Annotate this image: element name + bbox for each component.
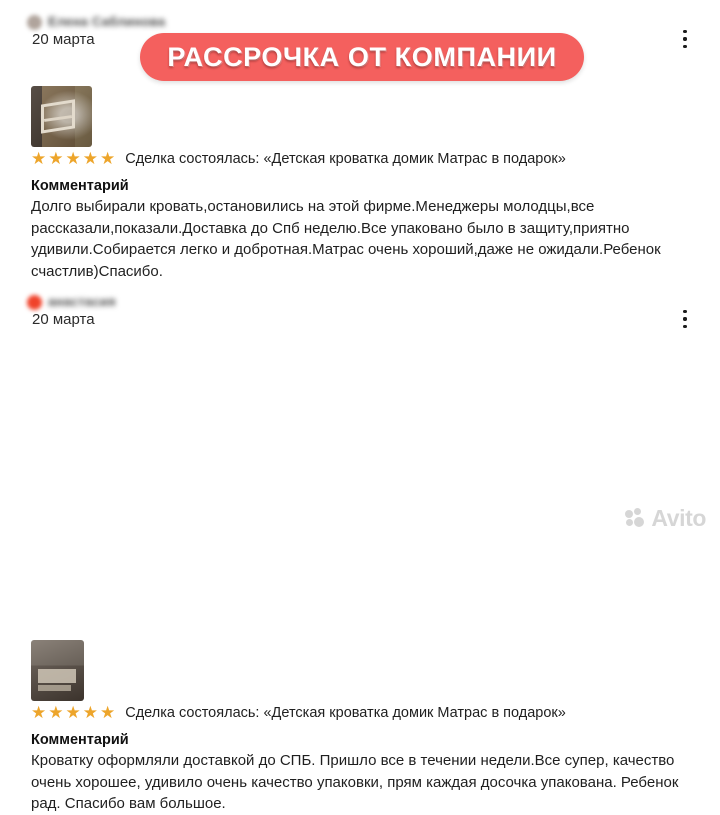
star-icon: ★ [100, 704, 115, 721]
review-photo-thumbnail[interactable] [31, 640, 84, 701]
star-icon: ★ [31, 704, 46, 721]
deal-row: ★ ★ ★ ★ ★ Сделка состоялась: «Детская кр… [31, 150, 566, 167]
deal-status-text: Сделка состоялась: «Детская кроватка дом… [125, 151, 566, 167]
reviews-page: Елена Саблинова 20 марта ★ ★ ★ ★ ★ Сделк… [0, 0, 720, 540]
star-icon: ★ [83, 150, 98, 167]
promo-banner-label: РАССРОЧКА ОТ КОМПАНИИ [167, 42, 556, 73]
star-icon: ★ [48, 704, 63, 721]
comment-line: рад. Спасибо вам большое. [31, 793, 699, 815]
comment-line: очень хорошее, удивило очень качество уп… [31, 772, 699, 794]
reviewer-name: Елена Саблинова [48, 14, 165, 29]
comment-line: Долго выбирали кровать,остановились на э… [31, 196, 699, 218]
avatar [27, 15, 42, 30]
star-icon: ★ [83, 704, 98, 721]
comment-line: Кроватку оформляли доставкой до СПБ. При… [31, 750, 699, 772]
review-date: 20 марта [32, 31, 95, 48]
comment-heading: Комментарий [31, 178, 129, 194]
kebab-menu-icon[interactable] [676, 28, 694, 50]
star-icon: ★ [100, 150, 115, 167]
comment-line: счастлив)Спасибо. [31, 261, 699, 283]
comment-text: Кроватку оформляли доставкой до СПБ. При… [31, 750, 699, 815]
star-icon: ★ [66, 704, 81, 721]
deal-row: ★ ★ ★ ★ ★ Сделка состоялась: «Детская кр… [31, 704, 566, 721]
reviewer-name: анастасия [48, 294, 116, 309]
avito-watermark-label: Avito [651, 505, 706, 532]
review-photo-thumbnail[interactable] [31, 86, 92, 147]
kebab-menu-icon[interactable] [676, 308, 694, 330]
comment-text: Долго выбирали кровать,остановились на э… [31, 196, 699, 282]
comment-heading: Комментарий [31, 732, 129, 748]
rating-stars: ★ ★ ★ ★ ★ [31, 704, 115, 721]
star-icon: ★ [31, 150, 46, 167]
promo-banner: РАССРОЧКА ОТ КОМПАНИИ [140, 33, 584, 81]
star-icon: ★ [48, 150, 63, 167]
comment-line: рассказали,показали.Доставка до Спб неде… [31, 218, 699, 240]
comment-line: удивили.Собирается легко и добротная.Мат… [31, 239, 699, 261]
avito-watermark: Avito [625, 505, 706, 532]
review-date: 20 марта [32, 311, 95, 328]
rating-stars: ★ ★ ★ ★ ★ [31, 150, 115, 167]
deal-status-text: Сделка состоялась: «Детская кроватка дом… [125, 705, 566, 721]
review-header: анастасия 20 марта [0, 288, 720, 334]
star-icon: ★ [66, 150, 81, 167]
review-card: анастасия 20 марта ★ ★ ★ ★ ★ Сделка сост… [0, 288, 720, 334]
avatar [27, 295, 42, 310]
avito-logo-icon [625, 508, 647, 530]
